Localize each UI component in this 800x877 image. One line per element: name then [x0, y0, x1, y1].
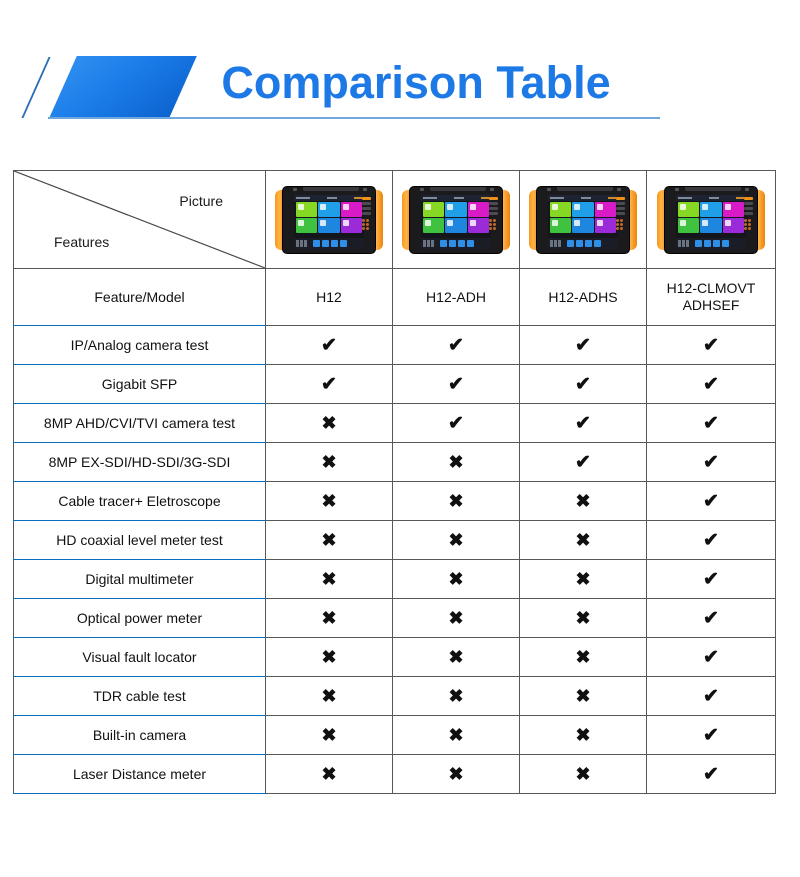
feature-value-cell: ✖: [266, 638, 393, 677]
check-icon: ✔: [703, 336, 719, 355]
corner-features-label: Features: [54, 234, 109, 250]
device-port: [675, 188, 679, 191]
feature-value-cell: ✖: [266, 521, 393, 560]
feature-value-cell: ✔: [647, 716, 776, 755]
check-icon: ✔: [321, 375, 337, 394]
device-dock: [294, 238, 364, 250]
feature-label: HD coaxial level meter test: [14, 521, 266, 560]
device-top-label: [430, 187, 486, 191]
feature-value-cell: ✔: [393, 326, 520, 365]
feature-label: Digital multimeter: [14, 560, 266, 599]
cross-icon: ✖: [575, 492, 590, 510]
cross-icon: ✖: [575, 531, 590, 549]
feature-value-cell: ✖: [266, 404, 393, 443]
feature-value-cell: ✔: [647, 326, 776, 365]
device-side-panel: [744, 197, 754, 249]
feature-value-cell: ✖: [520, 716, 647, 755]
check-icon: ✔: [448, 375, 464, 394]
cross-icon: ✖: [448, 492, 463, 510]
check-icon: ✔: [703, 375, 719, 394]
feature-value-cell: ✖: [393, 638, 520, 677]
device-port: [490, 188, 494, 191]
device-body: [409, 186, 503, 254]
cross-icon: ✖: [321, 492, 336, 510]
device-dock: [421, 238, 491, 250]
cross-icon: ✖: [575, 570, 590, 588]
check-icon: ✔: [575, 375, 591, 394]
feature-value-cell: ✖: [266, 482, 393, 521]
product-image-cell-3: [520, 171, 647, 269]
tester-device-icon: [275, 184, 383, 256]
feature-value-cell: ✔: [647, 599, 776, 638]
comparison-table: Picture Features: [13, 170, 776, 794]
cross-icon: ✖: [321, 570, 336, 588]
feature-value-cell: ✔: [266, 365, 393, 404]
feature-value-cell: ✖: [393, 560, 520, 599]
device-port: [420, 188, 424, 191]
feature-value-cell: ✖: [520, 482, 647, 521]
device-body: [664, 186, 758, 254]
device-screen: [421, 195, 491, 250]
feature-value-cell: ✔: [266, 326, 393, 365]
device-screen: [548, 195, 618, 250]
device-dock: [676, 238, 746, 250]
feature-value-cell: ✔: [647, 638, 776, 677]
check-icon: ✔: [703, 726, 719, 745]
feature-value-cell: ✔: [647, 755, 776, 794]
feature-value-cell: ✔: [647, 443, 776, 482]
page-title: Comparison Table: [0, 55, 800, 111]
model-name-cell-1: H12: [266, 269, 393, 326]
model-name-cell-3: H12-ADHS: [520, 269, 647, 326]
feature-value-cell: ✔: [520, 326, 647, 365]
cross-icon: ✖: [448, 609, 463, 627]
check-icon: ✔: [703, 609, 719, 628]
device-side-panel: [489, 197, 499, 249]
cross-icon: ✖: [448, 648, 463, 666]
feature-value-cell: ✖: [520, 677, 647, 716]
table-row-pictures: Picture Features: [14, 171, 776, 269]
tester-device-icon: [402, 184, 510, 256]
device-screen: [294, 195, 364, 250]
device-port: [617, 188, 621, 191]
cross-icon: ✖: [448, 453, 463, 471]
feature-label: Built-in camera: [14, 716, 266, 755]
cross-icon: ✖: [575, 648, 590, 666]
device-app-tiles: [676, 201, 746, 234]
model-name-line1: H12-CLMOVT: [647, 280, 775, 297]
feature-label: Optical power meter: [14, 599, 266, 638]
feature-value-cell: ✔: [647, 677, 776, 716]
check-icon: ✔: [703, 687, 719, 706]
feature-value-cell: ✔: [647, 521, 776, 560]
feature-value-cell: ✔: [520, 365, 647, 404]
cross-icon: ✖: [448, 687, 463, 705]
table-row: Digital multimeter ✖ ✖ ✖ ✔: [14, 560, 776, 599]
cross-icon: ✖: [575, 765, 590, 783]
table-row: Optical power meter ✖ ✖ ✖ ✔: [14, 599, 776, 638]
table-row: Gigabit SFP ✔ ✔ ✔ ✔: [14, 365, 776, 404]
device-screen: [676, 195, 746, 250]
cross-icon: ✖: [321, 648, 336, 666]
cross-icon: ✖: [575, 726, 590, 744]
cross-icon: ✖: [321, 609, 336, 627]
cross-icon: ✖: [448, 765, 463, 783]
table-row: Laser Distance meter ✖ ✖ ✖ ✔: [14, 755, 776, 794]
tester-device-icon: [657, 184, 765, 256]
feature-value-cell: ✔: [520, 404, 647, 443]
feature-label: TDR cable test: [14, 677, 266, 716]
feature-value-cell: ✔: [393, 365, 520, 404]
check-icon: ✔: [703, 765, 719, 784]
device-app-tiles: [294, 201, 364, 234]
device-side-panel: [362, 197, 372, 249]
model-name-line2: ADHSEF: [647, 297, 775, 314]
table-row: HD coaxial level meter test ✖ ✖ ✖ ✔: [14, 521, 776, 560]
check-icon: ✔: [448, 336, 464, 355]
feature-value-cell: ✖: [266, 716, 393, 755]
cross-icon: ✖: [448, 726, 463, 744]
check-icon: ✔: [703, 453, 719, 472]
feature-value-cell: ✔: [647, 365, 776, 404]
check-icon: ✔: [703, 648, 719, 667]
cross-icon: ✖: [321, 531, 336, 549]
cross-icon: ✖: [321, 453, 336, 471]
feature-value-cell: ✔: [520, 443, 647, 482]
feature-label: Gigabit SFP: [14, 365, 266, 404]
table-row: Visual fault locator ✖ ✖ ✖ ✔: [14, 638, 776, 677]
feature-value-cell: ✖: [393, 599, 520, 638]
table-row: TDR cable test ✖ ✖ ✖ ✔: [14, 677, 776, 716]
device-port: [363, 188, 367, 191]
feature-label: 8MP AHD/CVI/TVI camera test: [14, 404, 266, 443]
feature-value-cell: ✖: [393, 521, 520, 560]
device-port: [293, 188, 297, 191]
feature-value-cell: ✔: [647, 482, 776, 521]
cross-icon: ✖: [575, 609, 590, 627]
device-body: [282, 186, 376, 254]
device-top-label: [685, 187, 741, 191]
table-row: Built-in camera ✖ ✖ ✖ ✔: [14, 716, 776, 755]
feature-value-cell: ✖: [266, 443, 393, 482]
feature-value-cell: ✖: [393, 755, 520, 794]
feature-value-cell: ✖: [266, 755, 393, 794]
feature-value-cell: ✔: [647, 404, 776, 443]
product-image-cell-2: [393, 171, 520, 269]
check-icon: ✔: [575, 336, 591, 355]
table-row-models: Feature/Model H12 H12-ADH H12-ADHS H12-C…: [14, 269, 776, 326]
feature-model-label: Feature/Model: [14, 269, 266, 326]
device-app-tiles: [421, 201, 491, 234]
cross-icon: ✖: [575, 687, 590, 705]
tester-device-icon: [529, 184, 637, 256]
feature-value-cell: ✖: [266, 560, 393, 599]
page-header: Comparison Table: [0, 0, 800, 160]
feature-value-cell: ✖: [520, 638, 647, 677]
model-name-cell-4: H12-CLMOVT ADHSEF: [647, 269, 776, 326]
device-dock: [548, 238, 618, 250]
feature-value-cell: ✖: [520, 560, 647, 599]
cross-icon: ✖: [321, 687, 336, 705]
feature-value-cell: ✖: [266, 677, 393, 716]
check-icon: ✔: [321, 336, 337, 355]
feature-value-cell: ✖: [393, 482, 520, 521]
model-name-line1: H12: [266, 289, 392, 306]
cross-icon: ✖: [448, 570, 463, 588]
title-underline: [48, 117, 660, 119]
cross-icon: ✖: [321, 726, 336, 744]
feature-value-cell: ✖: [393, 443, 520, 482]
feature-label: 8MP EX-SDI/HD-SDI/3G-SDI: [14, 443, 266, 482]
model-name-line1: H12-ADHS: [520, 289, 646, 306]
model-name-cell-2: H12-ADH: [393, 269, 520, 326]
check-icon: ✔: [703, 531, 719, 550]
check-icon: ✔: [575, 453, 591, 472]
device-app-tiles: [548, 201, 618, 234]
feature-value-cell: ✖: [266, 599, 393, 638]
device-port: [547, 188, 551, 191]
device-side-panel: [616, 197, 626, 249]
cross-icon: ✖: [321, 414, 336, 432]
corner-header-cell: Picture Features: [14, 171, 266, 269]
feature-value-cell: ✖: [520, 755, 647, 794]
check-icon: ✔: [703, 414, 719, 433]
feature-value-cell: ✖: [393, 677, 520, 716]
device-top-label: [303, 187, 359, 191]
corner-diagonal-icon: [14, 171, 265, 268]
feature-value-cell: ✔: [393, 404, 520, 443]
product-image-cell-1: [266, 171, 393, 269]
cross-icon: ✖: [321, 765, 336, 783]
product-image-cell-4: [647, 171, 776, 269]
device-port: [745, 188, 749, 191]
feature-value-cell: ✖: [520, 599, 647, 638]
feature-label: Laser Distance meter: [14, 755, 266, 794]
device-body: [536, 186, 630, 254]
feature-label: Cable tracer+ Eletroscope: [14, 482, 266, 521]
corner-picture-label: Picture: [179, 193, 223, 209]
table-row: 8MP AHD/CVI/TVI camera test ✖ ✔ ✔ ✔: [14, 404, 776, 443]
table-row: IP/Analog camera test ✔ ✔ ✔ ✔: [14, 326, 776, 365]
check-icon: ✔: [703, 570, 719, 589]
feature-label: Visual fault locator: [14, 638, 266, 677]
feature-value-cell: ✖: [393, 716, 520, 755]
check-icon: ✔: [575, 414, 591, 433]
feature-label: IP/Analog camera test: [14, 326, 266, 365]
check-icon: ✔: [703, 492, 719, 511]
model-name-line1: H12-ADH: [393, 289, 519, 306]
cross-icon: ✖: [448, 531, 463, 549]
table-row: Cable tracer+ Eletroscope ✖ ✖ ✖ ✔: [14, 482, 776, 521]
feature-value-cell: ✖: [520, 521, 647, 560]
table-row: 8MP EX-SDI/HD-SDI/3G-SDI ✖ ✖ ✔ ✔: [14, 443, 776, 482]
check-icon: ✔: [448, 414, 464, 433]
device-top-label: [557, 187, 613, 191]
feature-value-cell: ✔: [647, 560, 776, 599]
